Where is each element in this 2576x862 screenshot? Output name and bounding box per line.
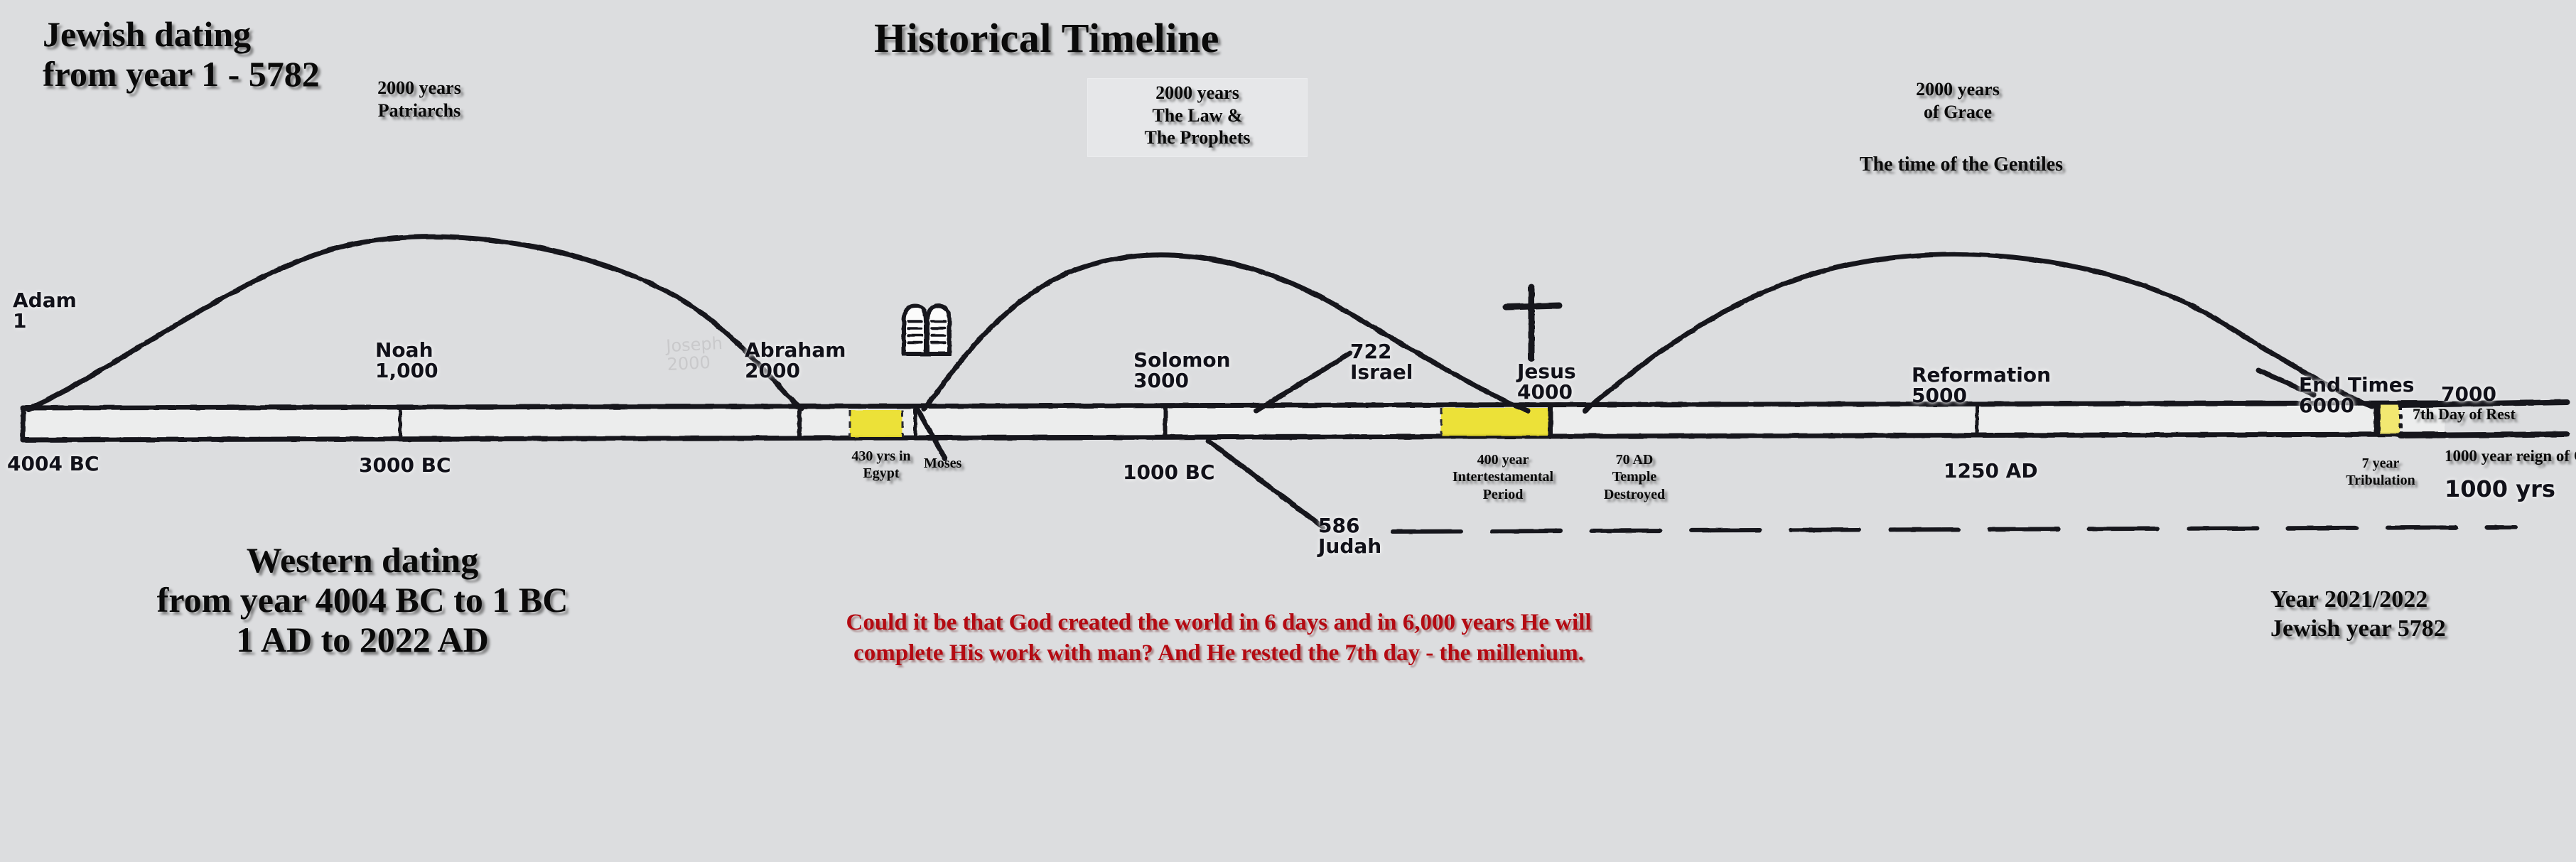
era-label-gentiles: The time of the Gentiles <box>1819 153 2103 177</box>
milestone-label-7000: 7000 <box>2441 384 2496 404</box>
note-intertestamental-period: 400 year Intertestamental Period <box>1432 451 1574 503</box>
leader-israel-722 <box>1256 353 1350 411</box>
note-thousand-year-reign: 1000 year reign of Christ <box>2445 446 2576 466</box>
highlight-intertestamental <box>1441 408 1549 436</box>
closing-question-text: Could it be that God created the world i… <box>803 608 1634 669</box>
milestone-label-end-times: End Times 6000 <box>2299 375 2414 416</box>
era-label-law-prophets: 2000 years The Law & The Prophets <box>1087 78 1308 157</box>
millennium-length-label: 1000 yrs <box>2445 478 2555 502</box>
timeline-bar-left-cap <box>23 407 23 441</box>
axis-tick-label-1250ad: 1250 AD <box>1944 460 2038 481</box>
leader-judah-586 <box>1208 441 1323 527</box>
arch-patriarchs <box>28 237 802 409</box>
page-title: Historical Timeline <box>874 16 1219 62</box>
note-430-years-egypt: 430 yrs in Egypt <box>824 448 938 483</box>
stone-tablets-icon <box>904 306 949 354</box>
axis-tick-label-4004bc: 4004 BC <box>7 453 99 474</box>
current-year-note: Year 2021/2022 Jewish year 5782 <box>2270 585 2446 644</box>
note-moses: Moses <box>924 455 1016 472</box>
milestone-label-reformation: Reformation 5000 <box>1912 365 2051 406</box>
milestone-label-israel-722: 722 Israel <box>1350 341 1413 383</box>
axis-tick-label-1000bc: 1000 BC <box>1123 462 1215 483</box>
milestone-label-adam: Adam 1 <box>13 290 77 332</box>
note-temple-destroyed: 70 AD Temple Destroyed <box>1588 451 1681 503</box>
milestone-label-solomon: Solomon 3000 <box>1133 350 1231 392</box>
era-label-grace: 2000 years of Grace <box>1855 78 2061 123</box>
milestone-label-noah: Noah 1,000 <box>375 340 438 382</box>
millennium-dashed-line <box>1393 527 2516 532</box>
millennial-band-bottom <box>2400 434 2567 436</box>
milestone-label-abraham: Abraham 2000 <box>745 340 846 382</box>
erased-pencil-annotation: Joseph 2000 <box>666 334 724 375</box>
highlight-egypt <box>850 410 902 437</box>
axis-tick-label-3000bc: 3000 BC <box>359 455 451 475</box>
cross-icon <box>1506 287 1559 359</box>
note-seven-year-tribulation: 7 year Tribulation <box>2327 455 2434 490</box>
milestone-label-judah-586: 586 Judah <box>1318 515 1381 557</box>
jewish-dating-heading: Jewish dating from year 1 - 5782 <box>43 14 320 94</box>
western-dating-heading: Western dating from year 4004 BC to 1 BC… <box>43 540 682 659</box>
era-label-patriarchs: 2000 years Patriarchs <box>320 77 519 122</box>
note-seventh-day-of-rest: 7th Day of Rest <box>2413 405 2569 424</box>
milestone-label-jesus: Jesus 4000 <box>1517 361 1576 403</box>
